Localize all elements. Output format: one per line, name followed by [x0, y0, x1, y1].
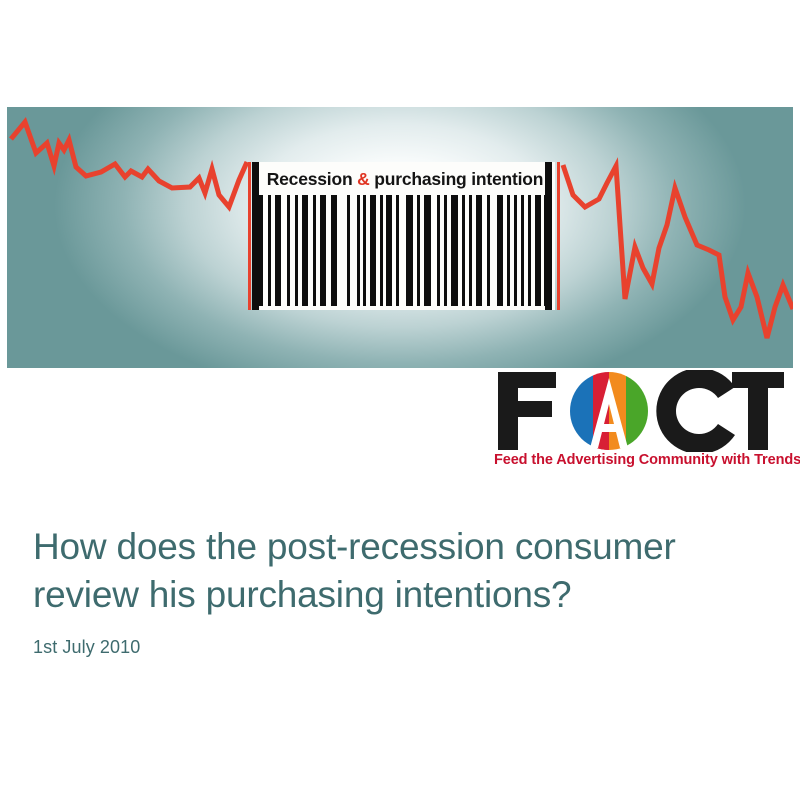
slide-canvas: Recession & purchasing intention — [0, 0, 800, 800]
barcode-bar — [313, 195, 316, 306]
barcode-bar — [437, 195, 440, 306]
barcode-bar — [347, 195, 350, 306]
barcode-bar — [357, 195, 360, 306]
logo-letter-c — [656, 370, 735, 452]
barcode-bar — [424, 195, 431, 306]
barcode-bar — [370, 195, 376, 306]
barcode-bar — [331, 195, 337, 306]
barcode-bar — [521, 195, 524, 306]
barcode-left-red-edge — [248, 162, 251, 310]
barcode-bar — [396, 195, 399, 306]
logo-tagline: Feed the Advertising Community with Tren… — [494, 452, 786, 468]
barcode-bar — [268, 195, 271, 306]
fact-logo: Feed the Advertising Community with Tren… — [494, 370, 786, 476]
barcode-bar — [462, 195, 465, 306]
barcode-bar — [275, 195, 281, 306]
barcode-bar — [535, 195, 541, 306]
barcode-bars — [259, 195, 549, 306]
declining-trend-line-right — [563, 165, 793, 338]
barcode-right-red-edge — [557, 162, 560, 310]
barcode-bar — [528, 195, 531, 306]
title-block: How does the post-recession consumer rev… — [33, 523, 753, 658]
barcode-bar — [507, 195, 510, 306]
barcode-bar — [497, 195, 503, 306]
barcode-headline: Recession & purchasing intention — [264, 166, 546, 193]
barcode-bar — [380, 195, 383, 306]
logo-letter-f — [498, 372, 556, 450]
barcode-bar — [363, 195, 366, 306]
barcode-bar — [451, 195, 458, 306]
barcode-bar — [417, 195, 420, 306]
logo-letter-a-circle — [570, 372, 649, 452]
wedge-blue — [570, 372, 593, 450]
barcode-bar — [295, 195, 298, 306]
barcode-bar — [302, 195, 308, 306]
declining-trend-line-left — [11, 122, 247, 207]
fact-logo-mark — [494, 370, 786, 452]
barcode-white-panel: Recession & purchasing intention — [253, 162, 555, 310]
slide-date: 1st July 2010 — [33, 637, 753, 658]
barcode-bar — [444, 195, 447, 306]
wedge-green — [626, 372, 649, 450]
recession-banner-image: Recession & purchasing intention — [7, 107, 793, 368]
barcode-bar — [386, 195, 392, 306]
barcode-guard-bar-left — [252, 162, 259, 310]
barcode-graphic: Recession & purchasing intention — [248, 162, 560, 310]
barcode-ampersand: & — [357, 169, 369, 189]
barcode-bar — [320, 195, 326, 306]
barcode-bar — [287, 195, 290, 306]
barcode-bar — [487, 195, 490, 306]
barcode-guard-bar-right — [545, 162, 552, 310]
page-title: How does the post-recession consumer rev… — [33, 523, 753, 619]
barcode-bar — [469, 195, 472, 306]
barcode-bar — [406, 195, 413, 306]
barcode-bar — [514, 195, 517, 306]
barcode-bar — [476, 195, 482, 306]
barcode-bar — [259, 195, 263, 306]
logo-letter-t — [732, 372, 784, 450]
